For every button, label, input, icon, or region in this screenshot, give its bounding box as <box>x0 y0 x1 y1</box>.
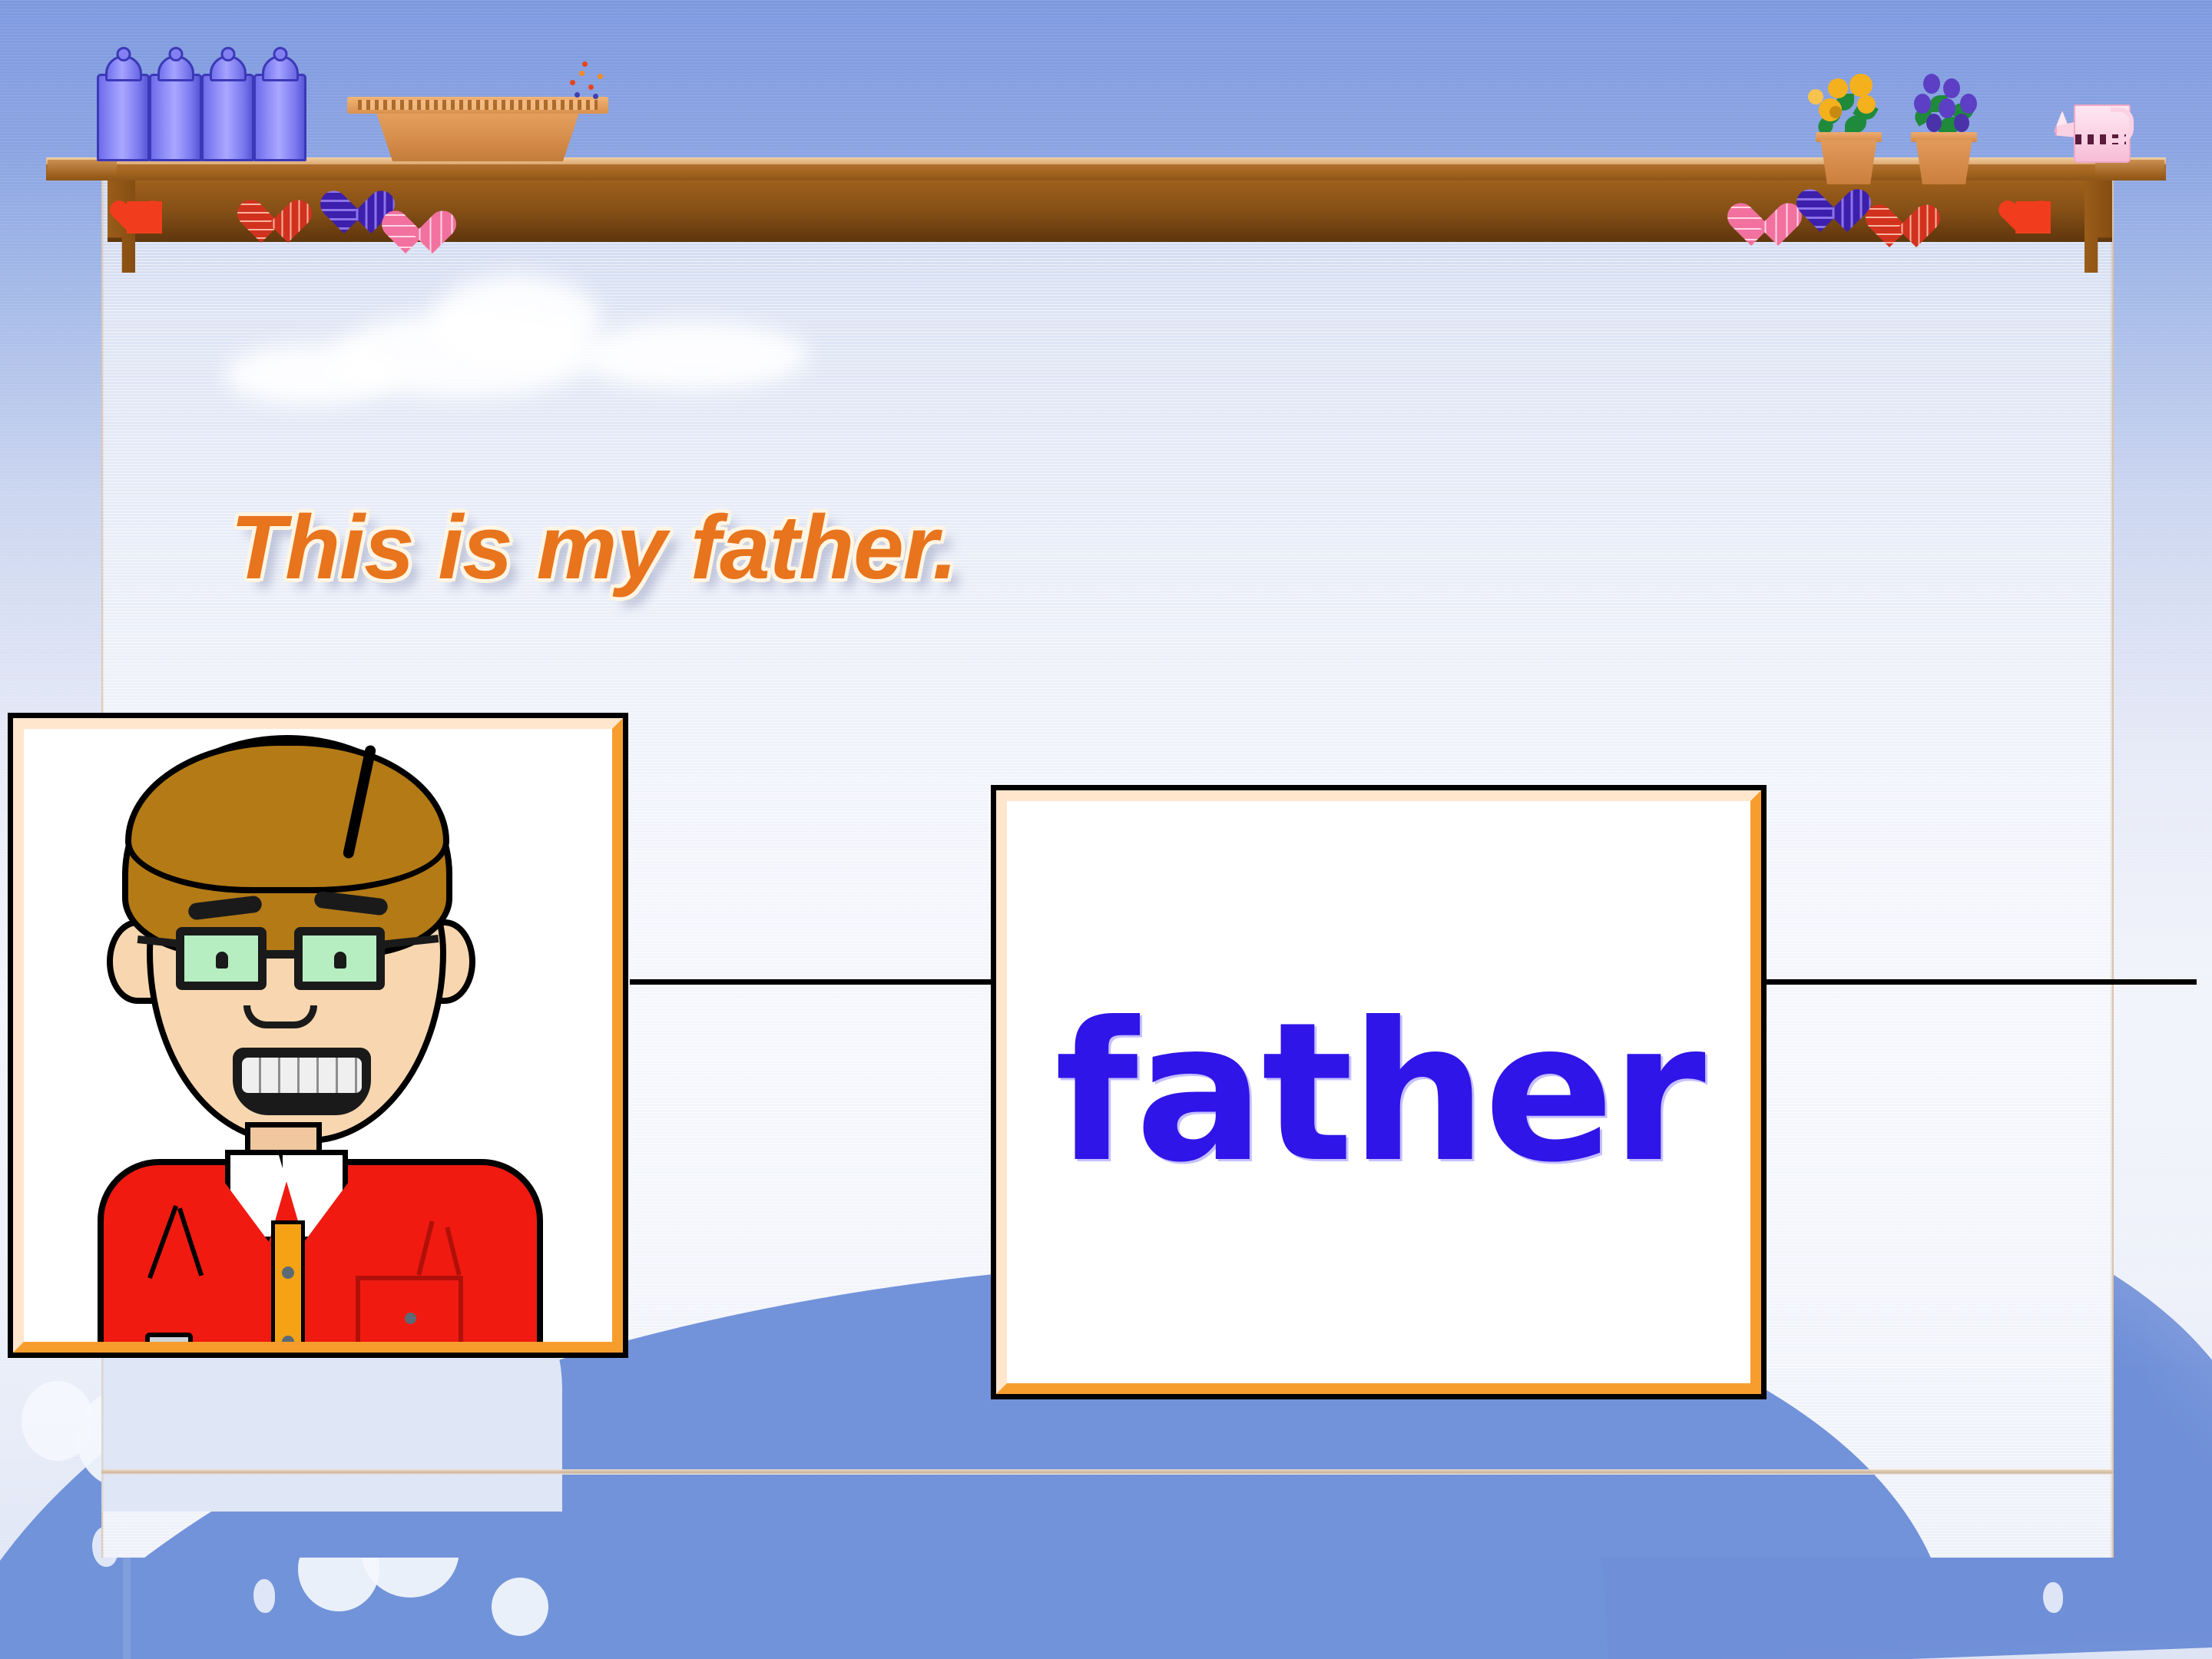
connector-line-right <box>1767 979 2197 985</box>
terracotta-trough-planter <box>347 91 608 161</box>
blue-jar-icon <box>201 74 254 161</box>
word-card[interactable]: father <box>991 785 1767 1399</box>
shelf-endcap-left <box>48 160 117 177</box>
blue-jars-group <box>97 77 327 161</box>
hanging-heart-pink <box>406 212 456 258</box>
photo-frame[interactable] <box>8 713 628 1358</box>
connector-line-left <box>630 979 995 985</box>
cloud-shape <box>224 344 401 406</box>
shelf-heart-icon <box>127 201 162 233</box>
blue-jar-icon <box>97 74 150 161</box>
hanging-heart-pink <box>1751 204 1802 250</box>
slide-root: This is my father. <box>0 0 2212 1659</box>
hanging-heart-purple <box>1820 190 1871 237</box>
word-card-inner: father <box>996 790 1761 1394</box>
shelf-heart-icon <box>2015 201 2051 233</box>
blue-jar-icon <box>149 74 202 161</box>
panel-horizon-line <box>101 1469 2114 1475</box>
pink-watering-can-icon <box>2055 100 2132 160</box>
cloud-shape <box>578 321 808 390</box>
photo-frame-inner <box>13 718 623 1353</box>
purple-flower-pot <box>1896 66 2011 164</box>
panel-right-edge <box>2110 175 2114 1558</box>
wave-fleck <box>253 1579 275 1613</box>
word-label: father <box>1007 801 1750 1383</box>
cartoon-man-illustration <box>24 729 612 1342</box>
yellow-flower-pot <box>1802 68 1909 164</box>
cloud-shape <box>432 275 601 367</box>
hanging-heart-red <box>261 201 312 247</box>
slide-title: This is my father. <box>230 495 957 600</box>
hanging-heart-red <box>1889 206 1940 252</box>
wave-fleck <box>2043 1582 2063 1613</box>
blue-jar-icon <box>253 74 306 161</box>
